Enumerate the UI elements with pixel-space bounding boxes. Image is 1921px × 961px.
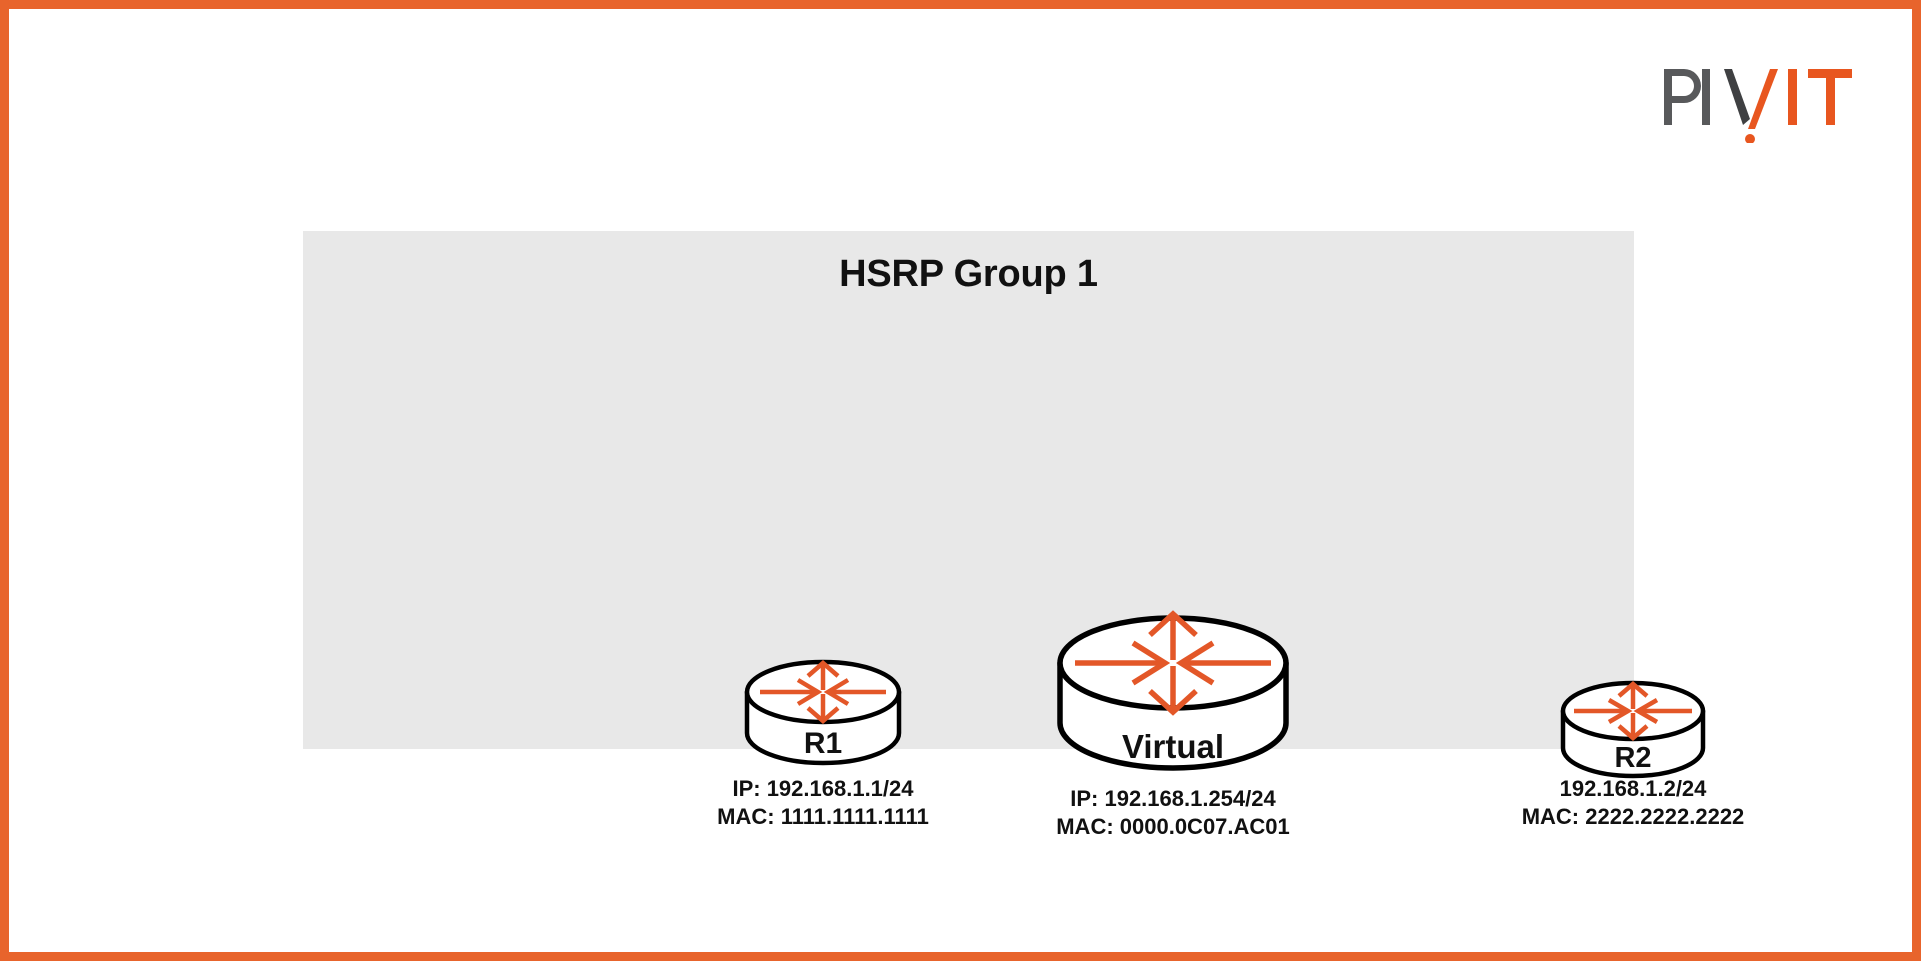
- diagram-panel: HSRP Group 1: [303, 231, 1634, 749]
- page-frame: HSRP Group 1: [0, 0, 1921, 961]
- node-virtual-mac: MAC: 0000.0C07.AC01: [1056, 813, 1290, 841]
- pivit-logo: [1658, 57, 1854, 143]
- node-r2-label: R2: [1468, 744, 1798, 773]
- node-virtual-info: IP: 192.168.1.254/24 MAC: 0000.0C07.AC01: [1056, 785, 1290, 841]
- node-virtual: Virtual IP: 192.168.1.254/24 MAC: 0000.0…: [993, 595, 1353, 775]
- pivit-logo-mark: [1658, 57, 1854, 143]
- node-r1-info: IP: 192.168.1.1/24 MAC: 1111.1111.1111: [717, 775, 929, 831]
- node-r1-ip: IP: 192.168.1.1/24: [717, 775, 929, 803]
- node-virtual-label: Virtual: [993, 730, 1353, 763]
- node-r1-label: R1: [658, 729, 988, 759]
- node-r2-ip: 192.168.1.2/24: [1522, 775, 1745, 803]
- node-virtual-ip: IP: 192.168.1.254/24: [1056, 785, 1290, 813]
- node-r2: R2 192.168.1.2/24 MAC: 2222.2222.2222: [1468, 669, 1798, 779]
- page-title: HSRP Group 1: [303, 253, 1634, 296]
- node-r2-info: 192.168.1.2/24 MAC: 2222.2222.2222: [1522, 775, 1745, 831]
- node-r1: R1 IP: 192.168.1.1/24 MAC: 1111.1111.111…: [658, 647, 988, 767]
- node-r1-mac: MAC: 1111.1111.1111: [717, 803, 929, 831]
- node-r2-mac: MAC: 2222.2222.2222: [1522, 803, 1745, 831]
